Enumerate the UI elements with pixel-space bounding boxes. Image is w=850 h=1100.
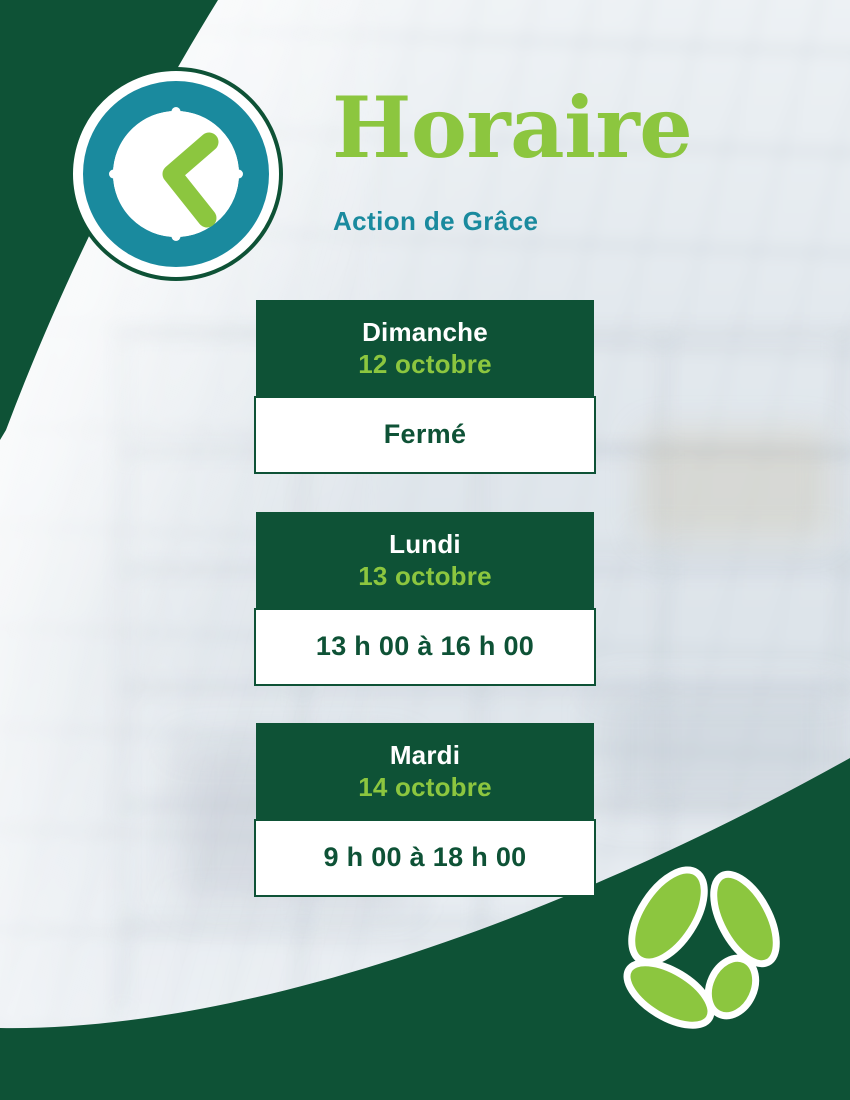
schedule-card-day: Mardi <box>266 740 584 770</box>
schedule-card: Lundi 13 octobre 13 h 00 à 16 h 00 <box>256 512 594 686</box>
schedule-card-body: 13 h 00 à 16 h 00 <box>254 608 596 686</box>
butterfly-logo-icon <box>612 858 804 1050</box>
schedule-card-body: 9 h 00 à 18 h 00 <box>254 819 596 897</box>
schedule-card-header: Lundi 13 octobre <box>256 512 594 608</box>
schedule-card-day: Lundi <box>266 529 584 559</box>
schedule-card-date: 13 octobre <box>266 561 584 592</box>
schedule-card-hours: 13 h 00 à 16 h 00 <box>256 631 594 662</box>
schedule-card-header: Dimanche 12 octobre <box>256 300 594 396</box>
schedule-card-date: 12 octobre <box>266 349 584 380</box>
schedule-card-header: Mardi 14 octobre <box>256 723 594 819</box>
schedule-card: Mardi 14 octobre 9 h 00 à 18 h 00 <box>256 723 594 897</box>
schedule-card: Dimanche 12 octobre Fermé <box>256 300 594 474</box>
schedule-card-body: Fermé <box>254 396 596 474</box>
schedule-card-hours: 9 h 00 à 18 h 00 <box>256 842 594 873</box>
schedule-card-day: Dimanche <box>266 317 584 347</box>
schedule-card-hours: Fermé <box>256 419 594 450</box>
schedule-card-date: 14 octobre <box>266 772 584 803</box>
poster-canvas: Horaire Action de Grâce Dimanche 12 octo… <box>0 0 850 1100</box>
